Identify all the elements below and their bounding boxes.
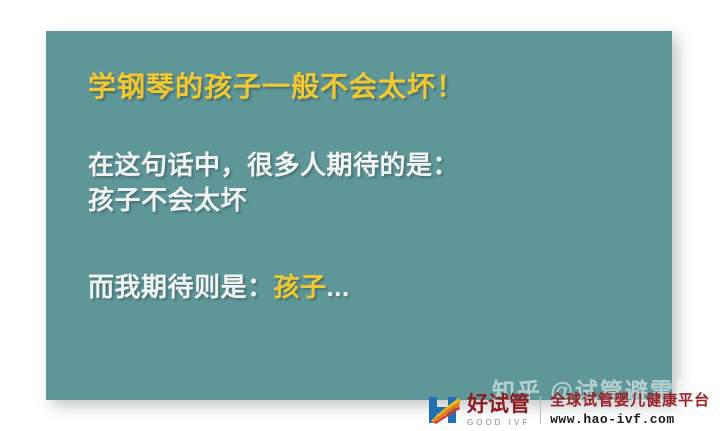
brand-text-block: 全球试管婴儿健康平台 www.hao-ivf.com (550, 393, 710, 427)
paragraph-two: 而我期待则是：孩子... (88, 270, 648, 305)
slide-text-block: 学钢琴的孩子一般不会太坏！ 在这句话中，很多人期待的是： 孩子不会太坏 而我期待… (88, 69, 648, 305)
brand-tagline: 全球试管婴儿健康平台 (550, 393, 710, 410)
brand-url: www.hao-ivf.com (550, 413, 710, 427)
quote-slide-panel: 学钢琴的孩子一般不会太坏！ 在这句话中，很多人期待的是： 孩子不会太坏 而我期待… (46, 31, 672, 400)
h-monogram-logo-icon (428, 394, 462, 426)
brand-name: 好试管 (467, 394, 530, 415)
paragraph-two-accent: 孩子 (274, 272, 327, 302)
paragraph-two-ellipsis: ... (327, 272, 350, 302)
slide-canvas: 学钢琴的孩子一般不会太坏！ 在这句话中，很多人期待的是： 孩子不会太坏 而我期待… (0, 0, 720, 431)
paragraph-one-line-two: 孩子不会太坏 (88, 183, 648, 218)
brand-lockup: 好试管 GOOD IVF (467, 394, 530, 427)
brand-footer: 好试管 GOOD IVF 全球试管婴儿健康平台 www.hao-ivf.com (428, 390, 710, 430)
paragraph-two-prefix: 而我期待则是： (88, 272, 274, 302)
paragraph-two-line: 而我期待则是：孩子... (88, 270, 648, 305)
slide-headline: 学钢琴的孩子一般不会太坏！ (88, 69, 648, 104)
brand-subtitle: GOOD IVF (467, 419, 530, 427)
paragraph-one: 在这句话中，很多人期待的是： 孩子不会太坏 (88, 148, 648, 218)
brand-divider (540, 396, 541, 424)
paragraph-one-line-one: 在这句话中，很多人期待的是： (88, 148, 648, 183)
